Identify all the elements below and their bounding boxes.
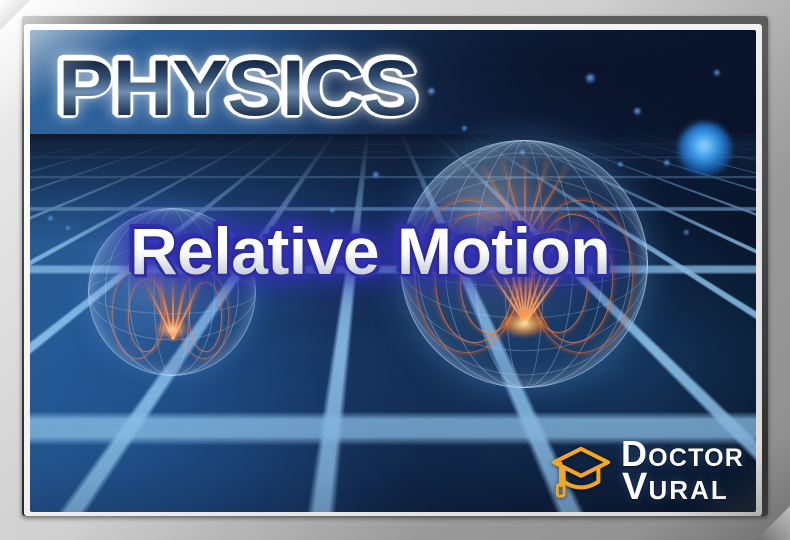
particle-dot [66,226,70,230]
grid-horizon-glow [30,136,756,182]
field-hotspot [155,319,189,339]
brand-logo[interactable]: Doctor Vural [550,439,744,504]
particle-dot [618,162,623,167]
blue-light-orb [678,122,732,176]
field-line [144,281,173,339]
particle-dot [714,70,720,76]
page-subtitle: Relative Motion [130,218,610,284]
particle-dot [634,108,641,115]
brand-doctor-rest: octor [648,444,744,472]
field-arc [128,279,165,353]
brand-wordmark: Doctor Vural [621,439,744,504]
brand-vural-initial: V [622,466,649,508]
brand-vural-rest: ural [649,475,729,505]
page-title: PHYSICS [58,48,418,127]
particle-dot [684,230,689,235]
particle-dot [373,172,379,178]
particle-dot [428,88,435,95]
particle-dot [664,160,670,166]
field-line [172,281,201,339]
particle-dot [330,208,335,213]
particle-dot [462,126,467,131]
field-hotspot [501,311,547,337]
thumbnail-frame: PHYSICS Relative Motion Doctor Vural [0,0,790,540]
field-arc [189,282,223,353]
particle-dot [48,216,53,221]
video-thumbnail-canvas[interactable]: PHYSICS Relative Motion Doctor Vural [30,30,756,512]
particle-dot [586,74,595,83]
brand-line-vural: Vural [622,471,729,504]
graduation-cap-icon [550,443,612,501]
